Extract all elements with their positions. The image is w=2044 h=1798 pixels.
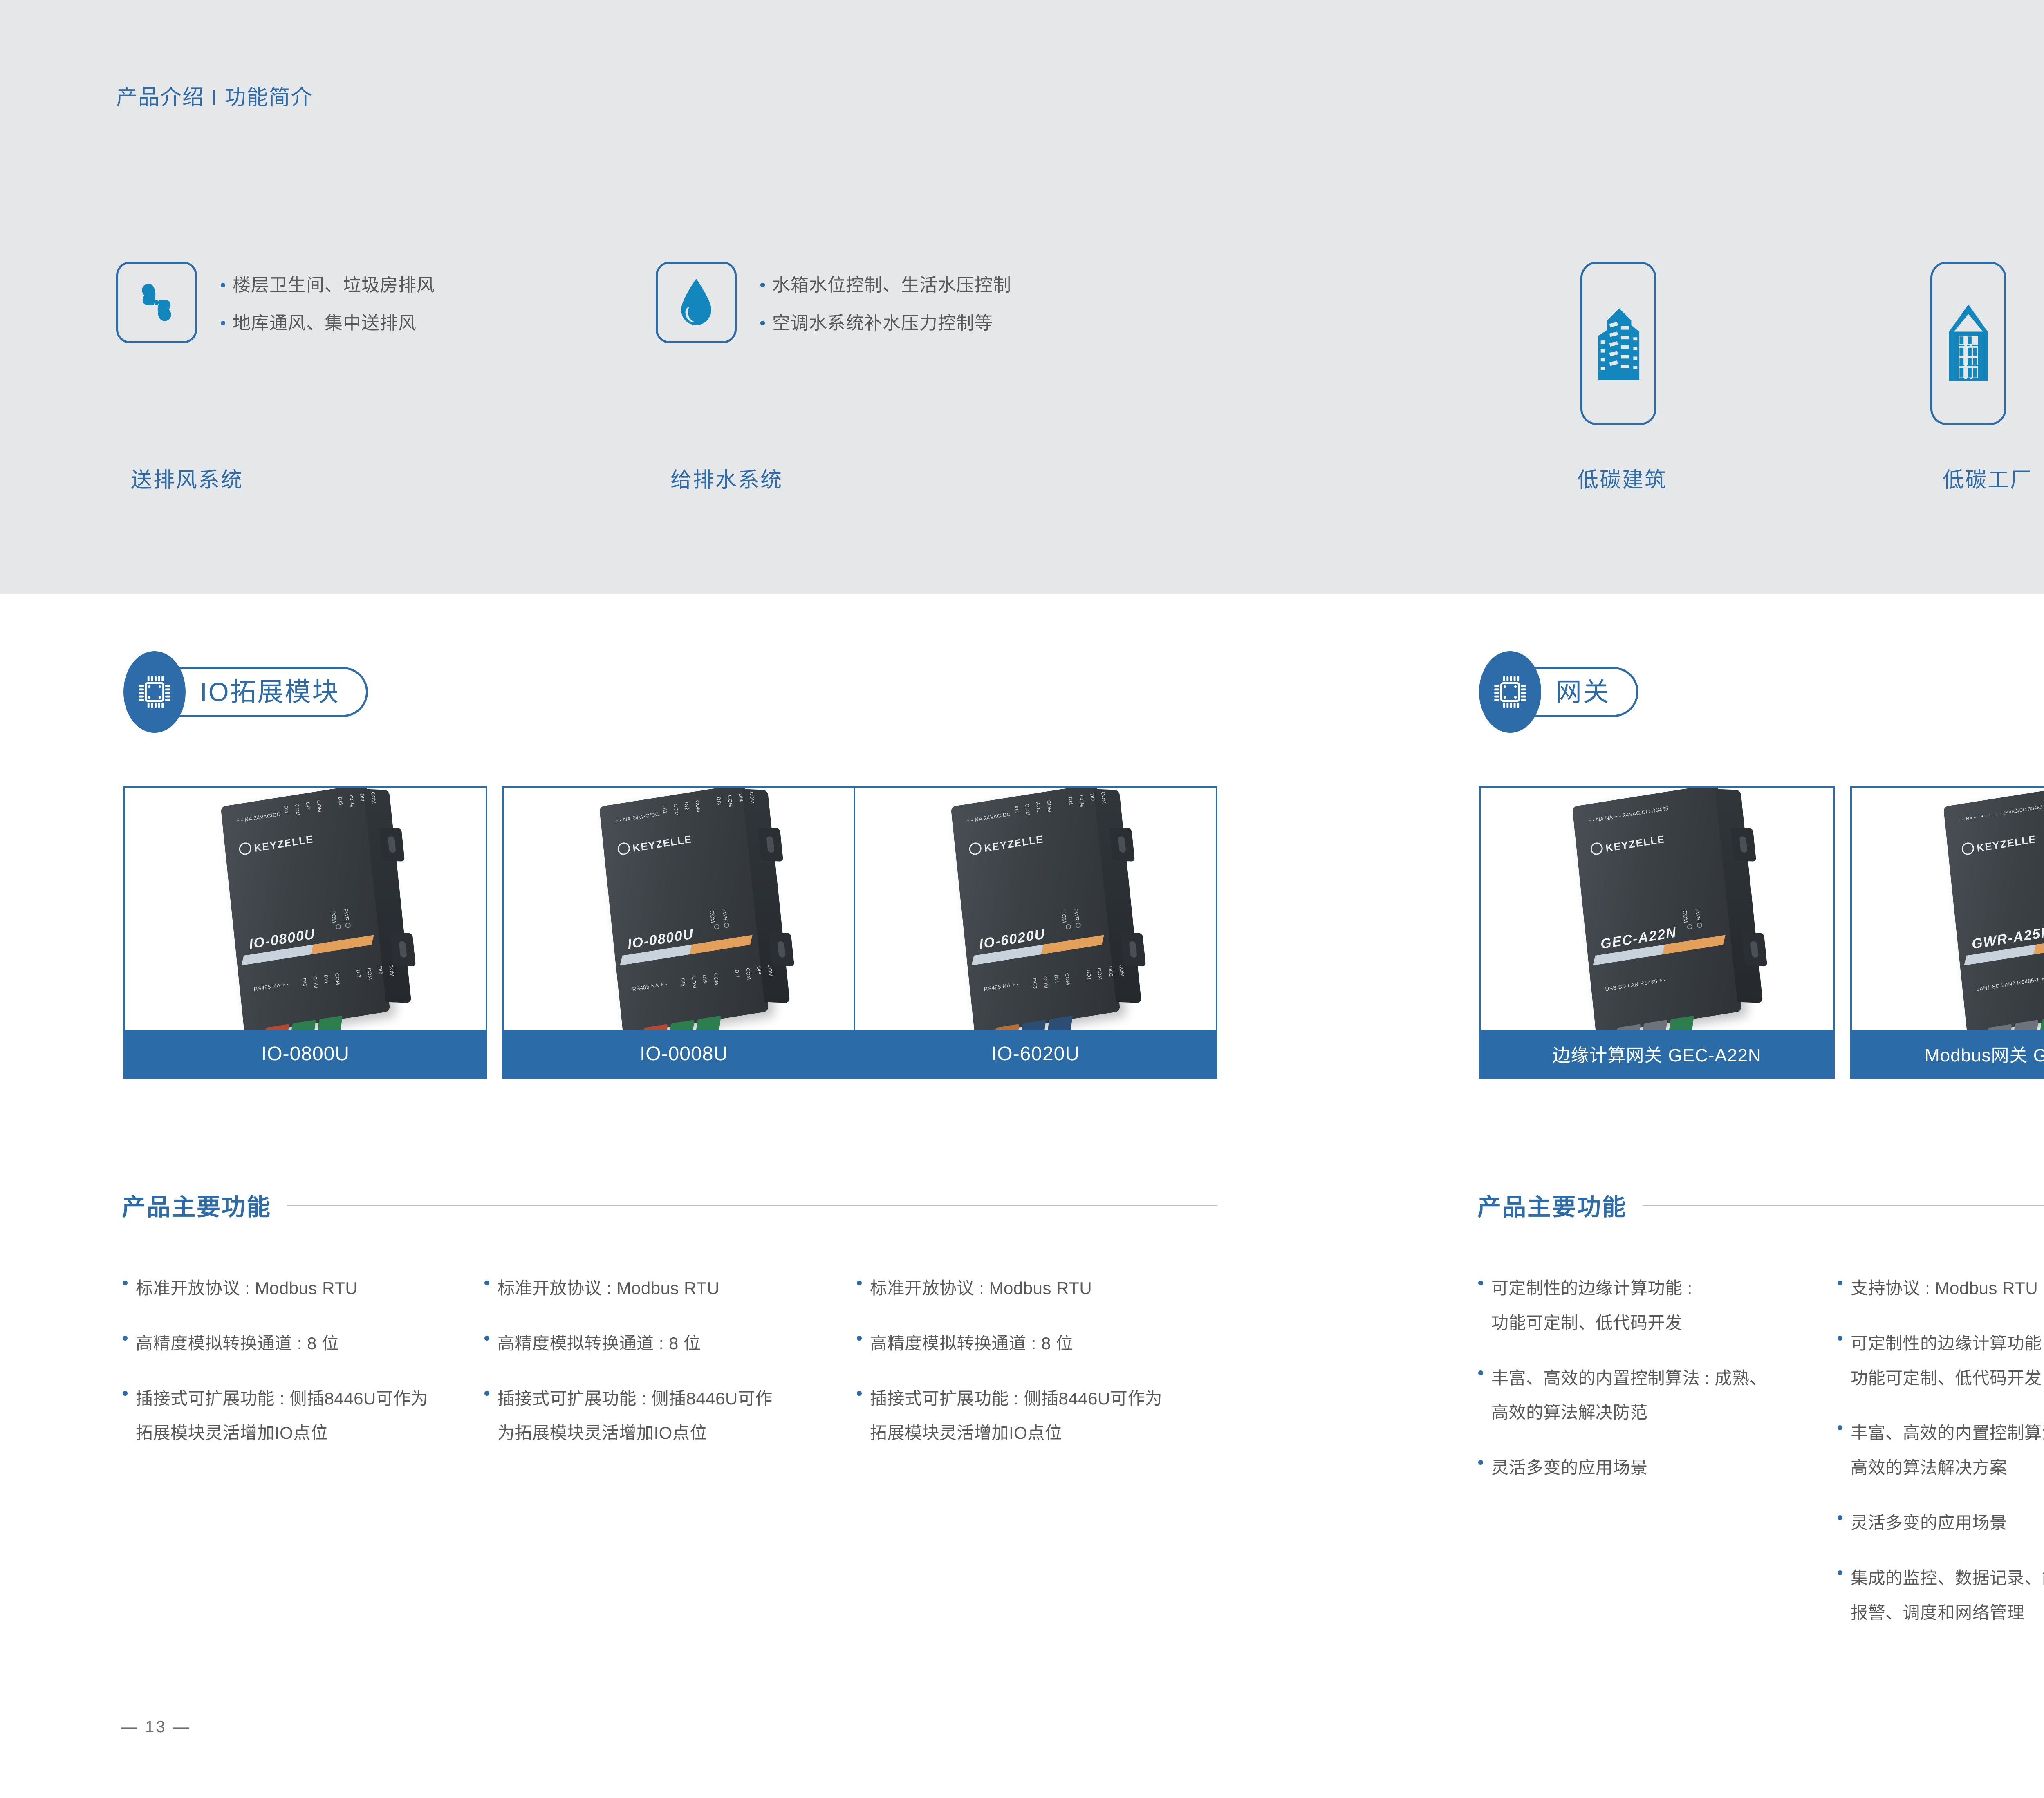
mount-ear-top — [1730, 827, 1756, 862]
bullet-dot-icon — [1838, 1281, 1842, 1285]
water-drop-icon — [672, 275, 721, 329]
feature-column: 标准开放协议 : Modbus RTU 高精度模拟转换通道 : 8 位 插接式可… — [484, 1271, 844, 1451]
bullet-dot-icon — [1838, 1425, 1842, 1430]
section-badge-gateway: 网关 — [1479, 649, 1638, 735]
device-body — [951, 788, 1121, 1030]
list-item: 空调水系统补水压力控制等 — [760, 312, 1011, 334]
fan-icon — [130, 276, 183, 329]
list-item: 丰富、高效的内置控制算法 : 成熟、 高效的算法解决方案 — [1838, 1416, 2044, 1485]
device-illustration: + - NA 24VAC/DC AI1 COM AO1 COM DI1 COM … — [951, 788, 1121, 1030]
mount-ear-top — [758, 827, 783, 862]
factory-icon — [1944, 296, 1992, 390]
feature-heading-title: 产品主要功能 — [122, 1188, 271, 1222]
list-item: 高精度模拟转换通道 : 8 位 — [857, 1326, 1217, 1361]
feature-heading-title: 产品主要功能 — [1477, 1188, 1627, 1222]
office-building-icon — [1594, 296, 1643, 390]
section-badge-io-modules: IO拓展模块 — [123, 649, 368, 735]
device-illustration: + - NA 24VAC/DC DI1 COM DI2 COM DI3 COM … — [221, 788, 390, 1030]
list-item: 标准开放协议 : Modbus RTU — [857, 1271, 1217, 1306]
bullet-dot-icon — [760, 321, 765, 325]
product-card[interactable]: + - NA NA + - 24VAC/DC RS485 KEYZELLE CO… — [1479, 786, 1835, 1079]
application-caption-ventilation: 送排风系统 — [131, 463, 243, 493]
brand-mark-icon — [968, 842, 982, 856]
chip-icon — [136, 673, 173, 711]
office-building-icon-frame — [1580, 262, 1656, 425]
list-item: 楼层卫生间、垃圾房排风 — [221, 274, 435, 296]
running-header-left: 产品介绍 I 功能简介 — [116, 80, 313, 111]
mount-ear-top — [1109, 827, 1135, 862]
bullet-dot-icon — [123, 1391, 128, 1396]
device-illustration: + - NA 24VAC/DC DI1 COM DI2 COM DI3 COM … — [599, 788, 769, 1030]
brand-mark-icon — [1961, 842, 1975, 856]
bullet-dot-icon — [1838, 1570, 1842, 1575]
product-card[interactable]: + - NA 24VAC/DC AI1 COM AO1 COM DI1 COM … — [854, 786, 1217, 1079]
product-card[interactable]: + - NA + - + - + - + - 24VAC/DC RS485-2 … — [1850, 786, 2044, 1079]
heading-rule — [287, 1205, 1217, 1206]
bullet-dot-icon — [123, 1281, 128, 1285]
product-card[interactable]: + - NA 24VAC/DC DI1 COM DI2 COM DI3 COM … — [123, 786, 487, 1079]
feature-column: 标准开放协议 : Modbus RTU 高精度模拟转换通道 : 8 位 插接式可… — [123, 1271, 482, 1451]
bullet-dot-icon — [1478, 1370, 1483, 1375]
bullet-dot-icon — [123, 1336, 128, 1341]
mount-ear-bottom — [769, 932, 794, 967]
list-item: 灵活多变的应用场景 — [1838, 1506, 2044, 1541]
brand-mark-icon — [617, 842, 630, 856]
bullet-dot-icon — [857, 1336, 862, 1341]
product-image-io-6020u: + - NA 24VAC/DC AI1 COM AO1 COM DI1 COM … — [855, 788, 1216, 1030]
device-illustration: + - NA + - + - + - + - 24VAC/DC RS485-2 … — [1943, 788, 2044, 1030]
device-body — [1943, 788, 2044, 1030]
bullet-dot-icon — [857, 1391, 862, 1396]
feature-column: 可定制性的边缘计算功能 : 功能可定制、低代码开发 丰富、高效的内置控制算法 :… — [1478, 1271, 1830, 1485]
product-label: 边缘计算网关 GEC-A22N — [1481, 1030, 1833, 1077]
feature-column: 标准开放协议 : Modbus RTU 高精度模拟转换通道 : 8 位 插接式可… — [857, 1271, 1217, 1451]
bullet-dot-icon — [221, 283, 225, 287]
list-item: 地库通风、集中送排风 — [221, 312, 435, 334]
list-item: 插接式可扩展功能 : 侧插8446U可作为 拓展模块灵活增加IO点位 — [123, 1382, 482, 1451]
device-body — [1572, 788, 1742, 1030]
bullet-dot-icon — [1478, 1460, 1483, 1465]
list-item: 高精度模拟转换通道 : 8 位 — [123, 1326, 482, 1361]
bullet-dot-icon — [857, 1281, 862, 1285]
brochure-spread: 产品介绍 I 功能简介 产品介绍 I 功能简介 楼层卫生间、垃圾房排风 — [0, 0, 2044, 1798]
page-number-left: — 13 — — [121, 1718, 191, 1736]
list-item: 标准开放协议 : Modbus RTU — [484, 1271, 844, 1306]
bullet-dot-icon — [484, 1391, 489, 1396]
product-label: IO-6020U — [855, 1030, 1216, 1077]
product-label: IO-0800U — [125, 1030, 486, 1077]
ventilation-bullet-list: 楼层卫生间、垃圾房排风 地库通风、集中送排风 — [221, 262, 435, 334]
list-item: 丰富、高效的内置控制算法 : 成熟、 高效的算法解决防范 — [1478, 1361, 1830, 1431]
factory-icon-frame — [1930, 262, 2006, 425]
feature-column: 支持协议 : Modbus RTU 可定制性的边缘计算功能 : 功能可定制、低代… — [1838, 1271, 2044, 1630]
fan-icon-frame — [116, 262, 197, 343]
product-image-gec-a22n: + - NA NA + - 24VAC/DC RS485 KEYZELLE CO… — [1481, 788, 1833, 1030]
scenario-caption-factory: 低碳工厂 — [1943, 463, 2033, 493]
mount-ear-bottom — [390, 932, 416, 967]
list-item: 可定制性的边缘计算功能 : 功能可定制、低代码开发 — [1838, 1326, 2044, 1396]
bullet-dot-icon — [221, 321, 225, 325]
chip-icon — [1491, 673, 1529, 711]
product-card[interactable]: + - NA 24VAC/DC DI1 COM DI2 COM DI3 COM … — [502, 786, 866, 1079]
chip-icon-circle — [123, 651, 186, 733]
device-body — [221, 788, 390, 1030]
bullet-dot-icon — [1838, 1336, 1842, 1341]
list-item: 高精度模拟转换通道 : 8 位 — [484, 1326, 844, 1361]
scenario-caption-building: 低碳建筑 — [1577, 463, 1667, 493]
product-label: Modbus网关 GWR-A25N — [1852, 1030, 2044, 1077]
brand-mark-icon — [1590, 842, 1603, 856]
bullet-dot-icon — [1478, 1281, 1483, 1285]
feature-heading-io: 产品主要功能 — [122, 1188, 1217, 1222]
product-image-io-0800u: + - NA 24VAC/DC DI1 COM DI2 COM DI3 COM … — [125, 788, 486, 1030]
mount-ear-top — [379, 827, 405, 862]
device-body — [599, 788, 769, 1030]
mount-ear-bottom — [1741, 932, 1767, 967]
list-item: 插接式可扩展功能 : 侧插8446U可作为 拓展模块灵活增加IO点位 — [857, 1382, 1217, 1451]
water-drop-icon-frame — [656, 262, 737, 343]
list-item: 支持协议 : Modbus RTU — [1838, 1271, 2044, 1306]
bullet-dot-icon — [484, 1281, 489, 1285]
heading-rule — [1643, 1205, 2044, 1206]
bullet-dot-icon — [760, 283, 765, 287]
list-item: 灵活多变的应用场景 — [1478, 1451, 1830, 1485]
brand-mark-icon — [238, 842, 252, 856]
list-item: 集成的监控、数据记录、能耗计量、 报警、调度和网络管理 — [1838, 1561, 2044, 1630]
application-caption-water: 给排水系统 — [670, 463, 783, 493]
section-title-pill-io: IO拓展模块 — [154, 667, 368, 717]
application-block-ventilation: 楼层卫生间、垃圾房排风 地库通风、集中送排风 — [116, 262, 435, 343]
mount-ear-bottom — [1120, 932, 1146, 967]
list-item: 标准开放协议 : Modbus RTU — [123, 1271, 482, 1306]
list-item: 可定制性的边缘计算功能 : 功能可定制、低代码开发 — [1478, 1271, 1830, 1341]
bullet-dot-icon — [1838, 1515, 1842, 1520]
application-block-water: 水箱水位控制、生活水压控制 空调水系统补水压力控制等 — [656, 262, 1011, 343]
product-image-io-0008u: + - NA 24VAC/DC DI1 COM DI2 COM DI3 COM … — [504, 788, 864, 1030]
section-title-gateway: 网关 — [1555, 679, 1610, 705]
chip-icon-circle — [1479, 651, 1541, 733]
device-illustration: + - NA NA + - 24VAC/DC RS485 KEYZELLE CO… — [1572, 788, 1742, 1030]
list-item: 水箱水位控制、生活水压控制 — [760, 274, 1011, 296]
product-image-gwr-a25n: + - NA + - + - + - + - 24VAC/DC RS485-2 … — [1852, 788, 2044, 1030]
section-title-io: IO拓展模块 — [200, 679, 340, 705]
list-item: 插接式可扩展功能 : 侧插8446U可作 为拓展模块灵活增加IO点位 — [484, 1382, 844, 1451]
water-bullet-list: 水箱水位控制、生活水压控制 空调水系统补水压力控制等 — [760, 262, 1011, 334]
bullet-dot-icon — [484, 1336, 489, 1341]
product-label: IO-0008U — [504, 1030, 864, 1077]
feature-heading-gateway: 产品主要功能 — [1477, 1188, 2044, 1222]
